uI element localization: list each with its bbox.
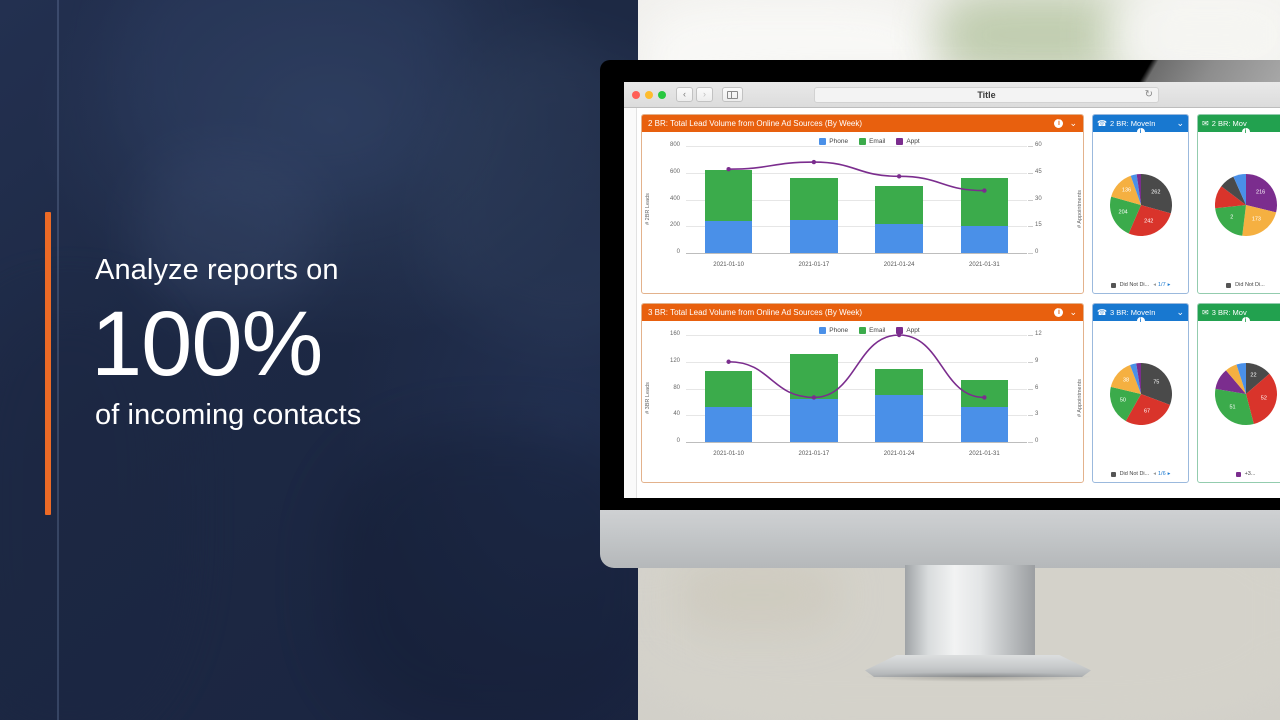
y-axis-label-left: # 2BR Leads — [645, 193, 651, 225]
next-page-icon[interactable]: ▸ — [1168, 471, 1171, 477]
pie-panel: ✉2 BR: Mov⌄i2161732Did Not Di... — [1197, 114, 1280, 294]
tick-mark — [1028, 362, 1033, 363]
pie-pager[interactable]: ◂1/6▸ — [1153, 471, 1170, 477]
imac-monitor: ‹ › Title ↻ 2 BR: Total Lead Volu — [600, 60, 1280, 510]
y-tick-left: 0 — [677, 249, 680, 255]
info-icon[interactable]: i — [1054, 119, 1063, 128]
chart-body-3br: Phone Email Appt — [642, 321, 1083, 482]
pie-panel-header[interactable]: ✉3 BR: Mov⌄i — [1198, 304, 1280, 321]
reload-icon[interactable]: ↻ — [1145, 90, 1153, 100]
chevron-down-icon[interactable]: ⌄ — [1176, 308, 1184, 317]
legend-swatch-email — [859, 327, 866, 334]
dashboard-content: 2 BR: Total Lead Volume from Online Ad S… — [637, 108, 1280, 498]
y-tick-right: 12 — [1035, 331, 1042, 337]
appointments-line-series — [686, 146, 1027, 253]
legend-swatch — [1226, 283, 1231, 288]
background-shape — [330, 430, 638, 720]
page-title: Title — [977, 90, 995, 100]
chevron-down-icon[interactable]: ⌄ — [1069, 119, 1077, 128]
y-tick-left: 0 — [677, 438, 680, 444]
chevron-down-icon[interactable]: ⌄ — [1069, 308, 1077, 317]
x-tick-label: 2021-01-10 — [713, 451, 744, 457]
legend-item-phone[interactable]: Phone — [819, 327, 848, 334]
tick-mark — [1028, 200, 1033, 201]
tick-mark — [1028, 253, 1033, 254]
legend-label: Appt — [906, 138, 919, 145]
zoom-window-button[interactable] — [658, 91, 666, 99]
legend-swatch — [1236, 472, 1241, 477]
pie-chart[interactable]: 262242204136 — [1093, 132, 1188, 277]
chart-card-2br: 2 BR: Total Lead Volume from Online Ad S… — [641, 114, 1084, 294]
y-tick-right: 3 — [1035, 411, 1038, 417]
legend-item-phone[interactable]: Phone — [819, 138, 848, 145]
address-bar[interactable]: Title ↻ — [814, 87, 1159, 103]
appointments-line-series — [686, 335, 1027, 442]
accent-bar — [45, 212, 51, 515]
chart-title: 3 BR: Total Lead Volume from Online Ad S… — [648, 308, 1048, 317]
pie-panel: ☎3 BR: MoveIn⌄i75675038Did Not Di...◂1/6… — [1092, 303, 1189, 483]
chevron-down-icon[interactable]: ⌄ — [1176, 119, 1184, 128]
tick-mark — [1028, 389, 1033, 390]
info-icon[interactable]: i — [1054, 308, 1063, 317]
x-tick-label: 2021-01-31 — [969, 262, 1000, 268]
pie-panel-title: 2 BR: Mov — [1212, 119, 1279, 128]
pie-panel-footer: Did Not Di...◂1/6▸ — [1093, 466, 1188, 482]
dashboard-app: 2 BR: Total Lead Volume from Online Ad S… — [624, 108, 1280, 498]
x-tick-label: 2021-01-17 — [799, 262, 830, 268]
photo-blur-shape — [678, 560, 838, 630]
prev-page-icon[interactable]: ◂ — [1153, 471, 1156, 477]
tick-mark — [1028, 442, 1033, 443]
pie-row-3br: ☎3 BR: MoveIn⌄i75675038Did Not Di...◂1/6… — [1092, 303, 1280, 483]
tick-mark — [1028, 415, 1033, 416]
y-tick-right: 15 — [1035, 222, 1042, 228]
y-tick-left: 40 — [673, 411, 680, 417]
x-tick-label: 2021-01-24 — [884, 262, 915, 268]
headline-block: Analyze reports on 100% of incoming cont… — [95, 255, 595, 432]
tick-mark — [1028, 226, 1033, 227]
chart-title: 2 BR: Total Lead Volume from Online Ad S… — [648, 119, 1048, 128]
legend-label: Did Not Di... — [1235, 282, 1265, 288]
pie-panel-footer: +3... — [1198, 466, 1280, 482]
y-tick-left: 160 — [670, 331, 680, 337]
x-tick-label: 2021-01-24 — [884, 451, 915, 457]
chart-header-2br[interactable]: 2 BR: Total Lead Volume from Online Ad S… — [642, 115, 1083, 132]
slide-left-panel: Analyze reports on 100% of incoming cont… — [0, 0, 638, 720]
phone-icon: ☎ — [1097, 309, 1107, 317]
pie-svg — [1215, 174, 1277, 236]
legend-label: Phone — [829, 138, 848, 145]
pie-panel-title: 2 BR: MoveIn — [1110, 119, 1173, 128]
y-tick-right: 45 — [1035, 169, 1042, 175]
page-indicator: 1/7 — [1158, 282, 1166, 288]
pie-panel-title: 3 BR: MoveIn — [1110, 308, 1173, 317]
pie-column: ☎2 BR: MoveIn⌄i262242204136Did Not Di...… — [1092, 114, 1280, 498]
legend-item-email[interactable]: Email — [859, 138, 885, 145]
tick-mark — [1028, 335, 1033, 336]
close-window-button[interactable] — [632, 91, 640, 99]
headline-top: Analyze reports on — [95, 255, 595, 287]
pie-slice[interactable] — [1215, 205, 1246, 236]
y-tick-right: 60 — [1035, 142, 1042, 148]
mail-icon: ✉ — [1202, 309, 1209, 317]
sidebar-toggle-button[interactable] — [722, 87, 743, 102]
app-sidebar[interactable] — [624, 108, 637, 498]
mail-icon: ✉ — [1202, 120, 1209, 128]
monitor-screen: ‹ › Title ↻ 2 BR: Total Lead Volu — [624, 82, 1280, 498]
headline-bottom: of incoming contacts — [95, 400, 595, 432]
pie-panel: ✉3 BR: Mov⌄i225251+3... — [1197, 303, 1280, 483]
phone-icon: ☎ — [1097, 120, 1107, 128]
monitor-stand-neck — [905, 565, 1035, 670]
y-tick-right: 0 — [1035, 249, 1038, 255]
chart-legend: Phone Email Appt — [660, 138, 1079, 145]
minimize-window-button[interactable] — [645, 91, 653, 99]
legend-label: Did Not Di... — [1120, 282, 1150, 288]
gridline — [686, 253, 1027, 254]
pie-panel-header[interactable]: ☎2 BR: MoveIn⌄i — [1093, 115, 1188, 132]
forward-button[interactable]: › — [696, 87, 713, 102]
plot-area-2br: # 2BR Leads # Appointments 8006060045400… — [646, 146, 1079, 271]
y-tick-right: 9 — [1035, 358, 1038, 364]
chart-header-3br[interactable]: 3 BR: Total Lead Volume from Online Ad S… — [642, 304, 1083, 321]
vertical-rule — [57, 0, 59, 720]
legend-item-appt[interactable]: Appt — [896, 138, 919, 145]
window-controls[interactable] — [632, 91, 666, 99]
legend-label: Email — [869, 138, 885, 145]
legend-label: Phone — [829, 327, 848, 334]
pie-chart[interactable]: 225251 — [1198, 321, 1280, 466]
plot-area-3br: # 3BR Leads # Appointments 1601212098064… — [646, 335, 1079, 460]
y-tick-left: 800 — [670, 142, 680, 148]
pie-row-2br: ☎2 BR: MoveIn⌄i262242204136Did Not Di...… — [1092, 114, 1280, 294]
x-tick-label: 2021-01-17 — [799, 451, 830, 457]
y-tick-left: 80 — [673, 385, 680, 391]
y-tick-left: 600 — [670, 169, 680, 175]
legend-label: Email — [869, 327, 885, 334]
pie-panel-title: 3 BR: Mov — [1212, 308, 1279, 317]
pie-chart[interactable]: 2161732 — [1198, 132, 1280, 277]
y-axis-label-right: # Appointments — [1077, 379, 1083, 417]
pie-chart[interactable]: 75675038 — [1093, 321, 1188, 466]
pie-svg — [1215, 363, 1277, 425]
gridline — [686, 442, 1027, 443]
y-tick-left: 120 — [670, 358, 680, 364]
browser-toolbar: ‹ › Title ↻ — [624, 82, 1280, 108]
back-button[interactable]: ‹ — [676, 87, 693, 102]
monitor-chin — [600, 510, 1280, 568]
pie-panel-footer: Did Not Di...◂1/7▸ — [1093, 277, 1188, 293]
y-axis-label-right: # Appointments — [1077, 190, 1083, 228]
headline-statistic: 100% — [91, 295, 595, 394]
y-tick-right: 30 — [1035, 196, 1042, 202]
tick-mark — [1028, 146, 1033, 147]
legend-swatch-phone — [819, 327, 826, 334]
chart-body-2br: Phone Email Appt — [642, 132, 1083, 293]
pie-panel-header[interactable]: ☎3 BR: MoveIn⌄i — [1093, 304, 1188, 321]
pie-svg — [1110, 174, 1172, 236]
y-tick-left: 200 — [670, 222, 680, 228]
next-page-icon[interactable]: ▸ — [1168, 282, 1171, 288]
legend-swatch-phone — [819, 138, 826, 145]
y-axis-label-left: # 3BR Leads — [645, 382, 651, 414]
monitor-stand-shadow — [862, 672, 1094, 682]
y-tick-right: 0 — [1035, 438, 1038, 444]
legend-swatch-email — [859, 138, 866, 145]
legend-item-email[interactable]: Email — [859, 327, 885, 334]
sidebar-icon — [727, 91, 738, 99]
pie-svg — [1110, 363, 1172, 425]
chart-card-3br: 3 BR: Total Lead Volume from Online Ad S… — [641, 303, 1084, 483]
x-tick-label: 2021-01-10 — [713, 262, 744, 268]
legend-label: Did Not Di... — [1120, 471, 1150, 477]
pie-panel-header[interactable]: ✉2 BR: Mov⌄i — [1198, 115, 1280, 132]
prev-page-icon[interactable]: ◂ — [1153, 282, 1156, 288]
x-tick-label: 2021-01-31 — [969, 451, 1000, 457]
y-tick-left: 400 — [670, 196, 680, 202]
legend-swatch-appt — [896, 138, 903, 145]
pie-panel-footer: Did Not Di... — [1198, 277, 1280, 293]
legend-label: +3... — [1245, 471, 1256, 477]
pie-panel: ☎2 BR: MoveIn⌄i262242204136Did Not Di...… — [1092, 114, 1189, 294]
navigation-buttons[interactable]: ‹ › — [676, 87, 713, 102]
chart-legend: Phone Email Appt — [660, 327, 1079, 334]
legend-swatch — [1111, 283, 1116, 288]
y-tick-right: 6 — [1035, 385, 1038, 391]
pie-pager[interactable]: ◂1/7▸ — [1153, 282, 1170, 288]
chart-column: 2 BR: Total Lead Volume from Online Ad S… — [641, 114, 1084, 498]
tick-mark — [1028, 173, 1033, 174]
legend-swatch — [1111, 472, 1116, 477]
legend-label: Appt — [906, 327, 919, 334]
page-indicator: 1/6 — [1158, 471, 1166, 477]
